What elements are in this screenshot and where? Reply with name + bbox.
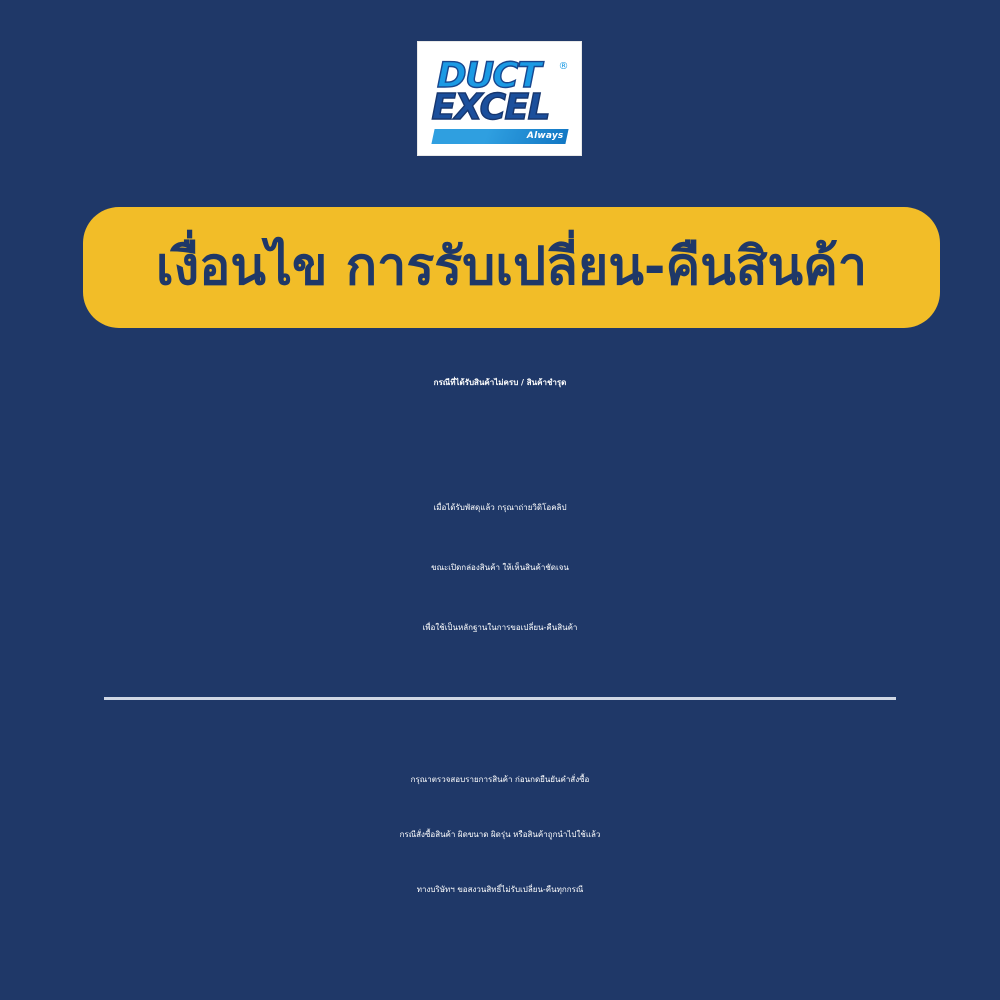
logo-word-excel: EXCEL <box>432 90 550 126</box>
title-banner: เงื่อนไข การรับเปลี่ยน-คืนสินค้า <box>83 207 940 328</box>
title-banner-text: เงื่อนไข การรับเปลี่ยน-คืนสินค้า <box>156 239 867 296</box>
body-line: ขณะเปิดกล่องสินค้า ให้เห็นสินค้าชัดเจน <box>0 538 1000 598</box>
lower-section-body: กรุณาตรวจสอบรายการสินค้า ก่อนกดยืนยันคำส… <box>0 752 1000 917</box>
lower-line: ทางบริษัทฯ ขอสงวนสิทธิ์ไม่รับเปลี่ยน-คืน… <box>0 862 1000 917</box>
brand-logo: DUCT ® EXCEL Always Excellent ! <box>418 42 581 155</box>
logo-artwork: DUCT ® EXCEL Always Excellent ! <box>430 53 570 145</box>
lower-line: กรุณาตรวจสอบรายการสินค้า ก่อนกดยืนยันคำส… <box>0 752 1000 807</box>
section-heading: กรณีที่ได้รับสินค้าไม่ครบ / สินค้าชำรุด <box>0 378 1000 387</box>
section-divider <box>104 697 896 700</box>
return-policy-poster: DUCT ® EXCEL Always Excellent ! เงื่อนไข… <box>0 0 1000 1000</box>
logo-tagline: Always Excellent ! <box>478 130 564 156</box>
body-line: เพื่อใช้เป็นหลักฐานในการขอเปลี่ยน-คืนสิน… <box>0 598 1000 658</box>
lower-line: กรณีสั่งซื้อสินค้า ผิดขนาด ผิดรุ่น หรือส… <box>0 807 1000 862</box>
registered-trademark-icon: ® <box>559 61 569 72</box>
body-line: เมื่อได้รับพัสดุแล้ว กรุณาถ่ายวิดิโอคลิป <box>0 478 1000 538</box>
section-body: เมื่อได้รับพัสดุแล้ว กรุณาถ่ายวิดิโอคลิป… <box>0 478 1000 658</box>
